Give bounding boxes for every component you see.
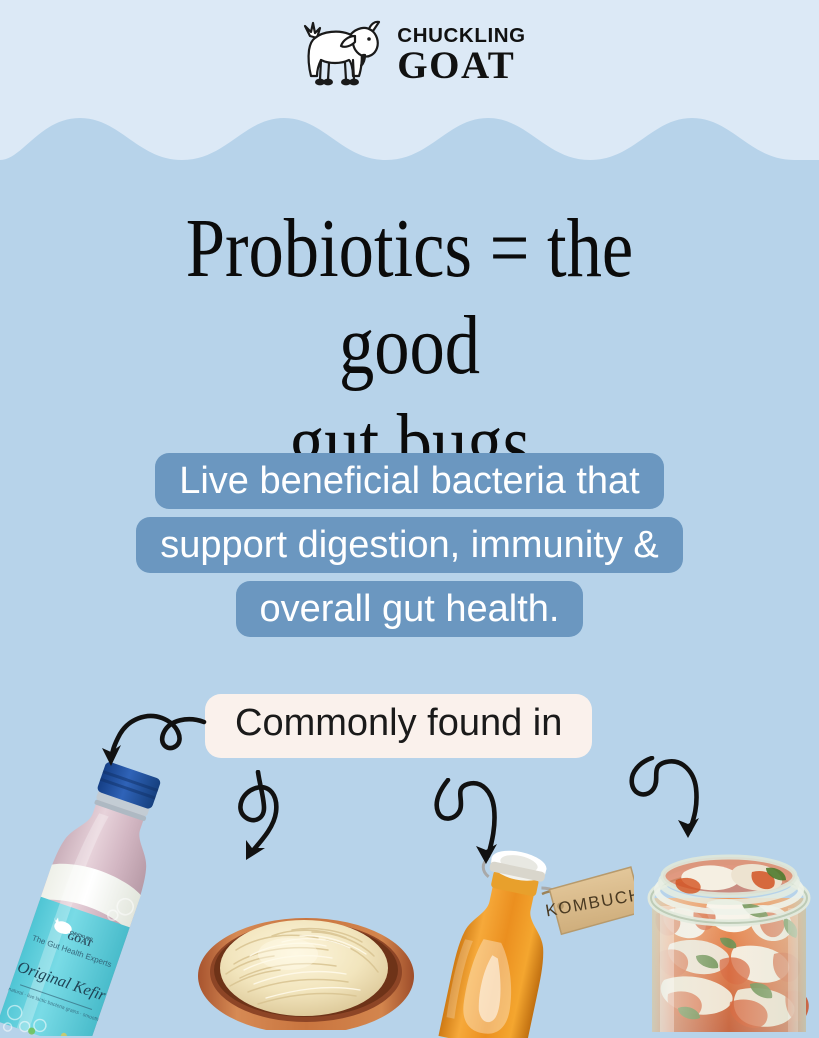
description-block: Live beneficial bacteria that support di… <box>0 453 819 645</box>
kimchi-jar <box>634 852 819 1032</box>
logo-wordmark: CHUCKLING GOAT <box>397 26 525 85</box>
description-line: overall gut health. <box>0 581 819 645</box>
curly-arrow-icon <box>92 700 207 785</box>
curly-arrow-icon <box>222 770 337 880</box>
page-title: Probiotics = the good gut bugs <box>108 200 712 492</box>
logo-line-1: CHUCKLING <box>397 26 525 47</box>
brand-logo[interactable]: CHUCKLING GOAT <box>0 14 819 96</box>
description-line: support digestion, immunity & <box>0 517 819 581</box>
section-label-pill: Commonly found in <box>205 694 592 758</box>
wave-divider <box>0 118 819 188</box>
logo-line-2: GOAT <box>397 47 515 84</box>
curly-arrow-icon <box>618 756 733 866</box>
description-line-text: support digestion, immunity & <box>136 517 682 573</box>
kefir-bottle: CHUCKLiNG GOAT The Gut Health Experts Or… <box>0 756 194 1036</box>
curly-arrow-icon <box>418 778 533 888</box>
goat-icon <box>293 18 387 92</box>
description-line-text: overall gut health. <box>236 581 584 637</box>
description-line: Live beneficial bacteria that <box>0 453 819 517</box>
description-line-text: Live beneficial bacteria that <box>155 453 664 509</box>
sauerkraut-bowl <box>196 880 416 1030</box>
